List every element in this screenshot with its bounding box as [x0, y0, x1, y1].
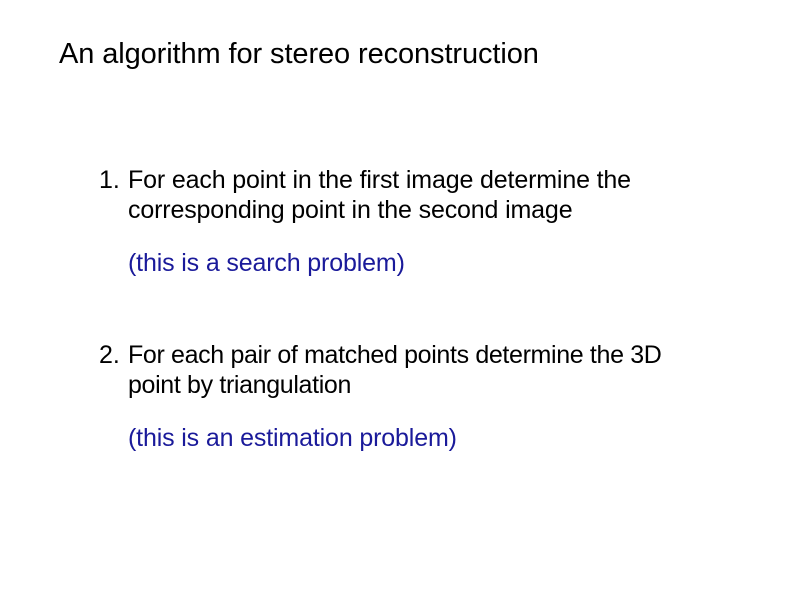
- list-item-row: 2. For each pair of matched points deter…: [99, 340, 699, 400]
- list-item-note: (this is a search problem): [128, 248, 699, 278]
- slide-body: 1. For each point in the first image det…: [99, 165, 699, 453]
- slide-canvas: An algorithm for stereo reconstruction 1…: [0, 0, 800, 600]
- list-item-marker: 2.: [99, 340, 128, 370]
- list-item: 1. For each point in the first image det…: [99, 165, 699, 278]
- page-title: An algorithm for stereo reconstruction: [59, 38, 539, 71]
- list-item-marker: 1.: [99, 165, 128, 195]
- list-item-text: For each pair of matched points determin…: [128, 340, 699, 400]
- list-item-text: For each point in the first image determ…: [128, 165, 699, 225]
- list-item-note: (this is an estimation problem): [128, 423, 699, 453]
- list-item-row: 1. For each point in the first image det…: [99, 165, 699, 225]
- list-item: 2. For each pair of matched points deter…: [99, 340, 699, 453]
